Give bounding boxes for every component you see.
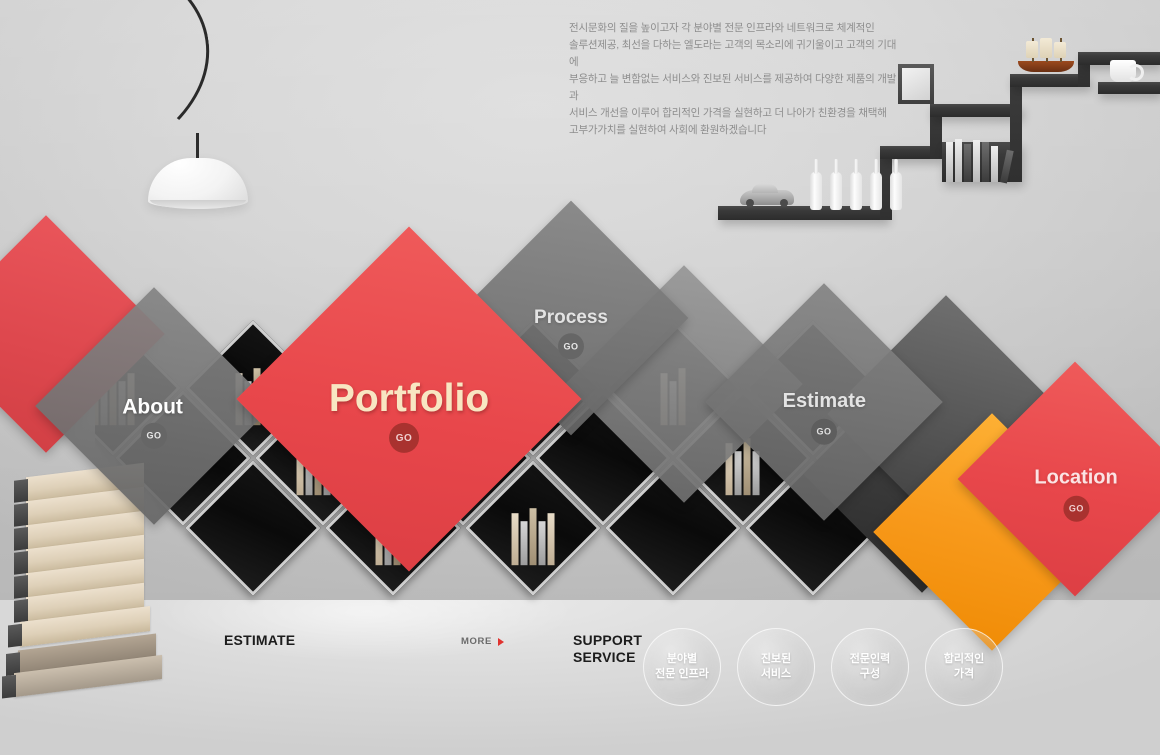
tile-about-label: About [69, 395, 237, 419]
tile-portfolio-go-button[interactable]: GO [389, 423, 419, 453]
bottle-icon [830, 172, 842, 210]
toy-car-icon [740, 190, 794, 205]
tile-process-go-button[interactable]: GO [558, 333, 584, 359]
estimate-section-label: ESTIMATE [224, 632, 295, 648]
mug-icon [1110, 60, 1136, 82]
shelf-board-6 [1098, 82, 1160, 94]
picture-frame-icon [898, 64, 934, 104]
shelf-board-1 [718, 206, 888, 220]
support-service-label: SUPPORT SERVICE [573, 632, 642, 666]
tile-about-go-button[interactable]: GO [141, 423, 167, 449]
bottle-icon [870, 172, 882, 210]
feature-circle-4[interactable]: 합리적인 가격 [925, 628, 1003, 706]
tile-process-label: Process [488, 307, 654, 329]
tile-estimate-label: Estimate [740, 390, 908, 413]
feature-circle-3[interactable]: 전문인력 구성 [831, 628, 909, 706]
tile-estimate-go-button[interactable]: GO [811, 419, 837, 445]
bottle-icon [850, 172, 862, 210]
feature-circle-2[interactable]: 진보된 서비스 [737, 628, 815, 706]
shelf-board-3 [930, 104, 1022, 117]
shelf-riser-3 [1010, 74, 1022, 182]
support-feature-circles: 분야별 전문 인프라 진보된 서비스 전문인력 구성 합리적인 가격 [643, 628, 1003, 706]
tile-location-go-button[interactable]: GO [1063, 496, 1089, 522]
more-button[interactable]: MORE [461, 636, 504, 647]
bottle-icon [890, 172, 902, 210]
bottle-icon [810, 172, 822, 210]
page-root: 전시문화의 질을 높이고자 각 분야별 전문 인프라와 네트워크로 체계적인 솔… [0, 0, 1160, 755]
ship-model-icon [1018, 38, 1074, 72]
tile-location-label: Location [993, 466, 1159, 489]
feature-circle-1[interactable]: 분야별 전문 인프라 [643, 628, 721, 706]
wall-shelf [718, 46, 1160, 236]
more-button-label: MORE [461, 636, 492, 647]
play-arrow-icon [498, 638, 504, 646]
tile-portfolio-label: Portfolio [287, 377, 531, 421]
